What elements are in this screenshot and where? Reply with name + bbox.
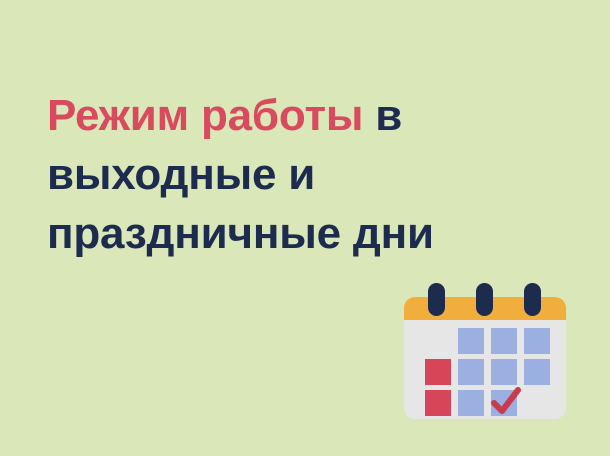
calendar-cell	[524, 359, 550, 385]
calendar-cell	[458, 328, 484, 354]
calendar-cell-selected	[491, 390, 517, 416]
calendar-cell-holiday	[425, 390, 451, 416]
calendar-ring-icon-3	[524, 283, 541, 316]
page-title: Режим работы в выходные и праздничные дн…	[47, 86, 547, 263]
headline-accent-text: Режим работы	[47, 91, 363, 140]
headline-line-1-rest: в	[363, 91, 402, 140]
calendar-cell	[491, 359, 517, 385]
calendar-cell	[458, 390, 484, 416]
calendar-ring-icon-1	[428, 283, 445, 316]
calendar-cell	[491, 328, 517, 354]
checkmark-icon	[486, 380, 526, 420]
calendar-cell	[524, 390, 550, 416]
calendar-cell	[524, 328, 550, 354]
calendar-day-grid	[425, 328, 551, 416]
headline-line-2: выходные и	[47, 145, 547, 204]
headline-line-1: Режим работы в	[47, 86, 547, 145]
calendar-cell	[425, 328, 451, 354]
headline-line-3: праздничные дни	[47, 204, 547, 263]
calendar-cell	[458, 359, 484, 385]
poster-canvas: Режим работы в выходные и праздничные дн…	[0, 0, 610, 456]
calendar-ring-icon-2	[476, 283, 493, 316]
calendar-icon	[404, 283, 566, 419]
calendar-cell-holiday	[425, 359, 451, 385]
